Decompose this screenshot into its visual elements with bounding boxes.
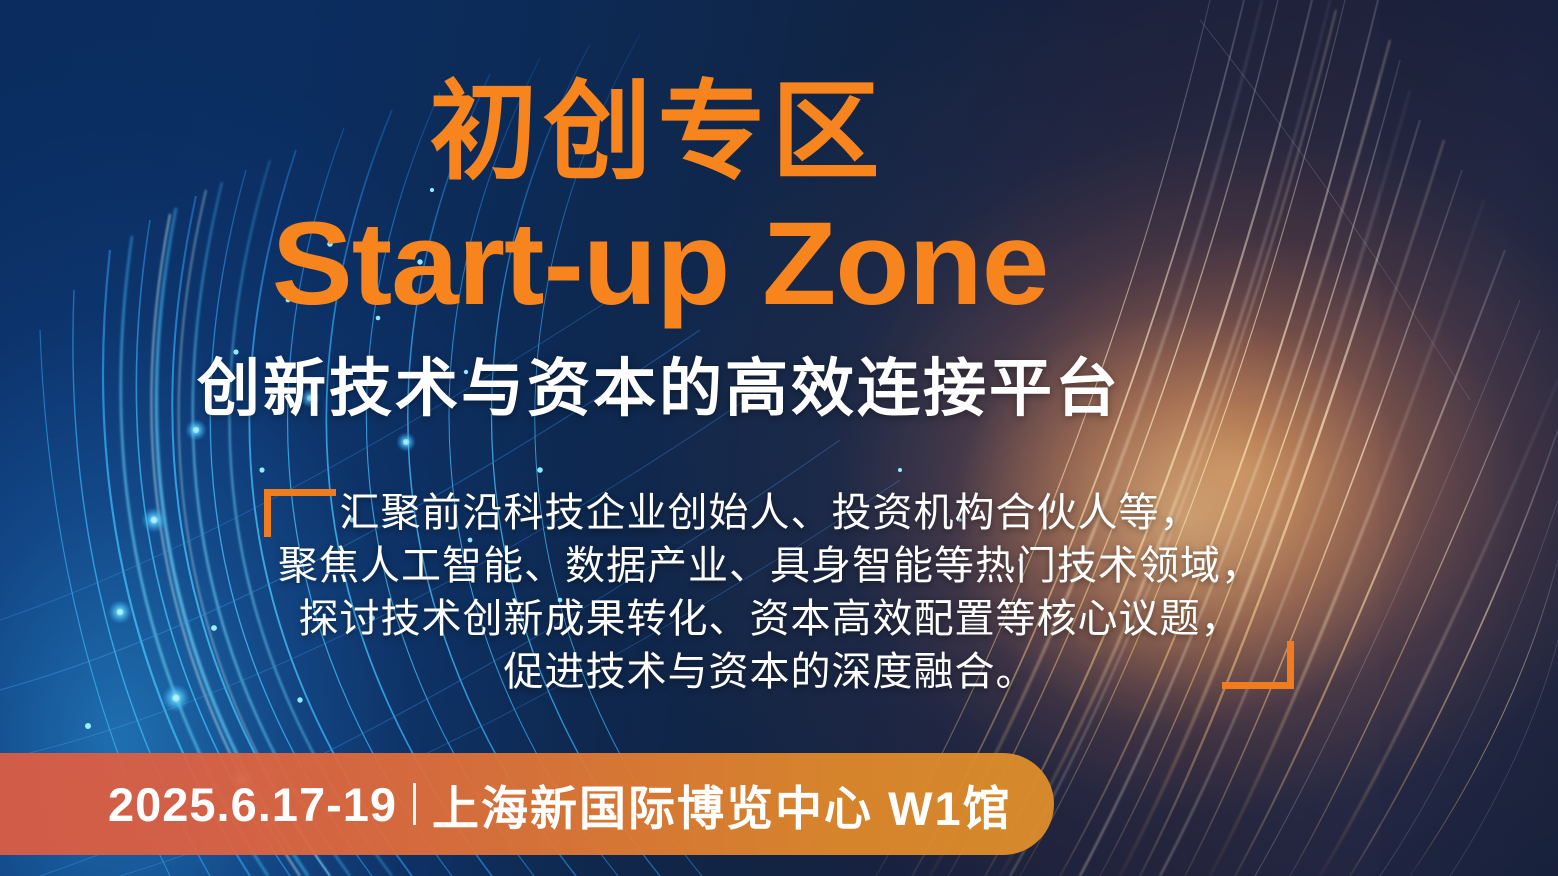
page-subtitle: 创新技术与资本的高效连接平台: [0, 358, 1318, 421]
banner-content: 初创专区 Start-up Zone 创新技术与资本的高效连接平台 汇聚前沿科技…: [0, 0, 1558, 876]
description-line-3: 探讨技术创新成果转化、资本高效配置等核心议题，: [230, 593, 1310, 646]
footer-info: 2025.6.17-19 上海新国际博览中心 W1馆: [108, 753, 1012, 855]
event-date: 2025.6.17-19: [108, 777, 397, 832]
event-venue: 上海新国际博览中心 W1馆: [432, 770, 1012, 839]
description-line-4: 促进技术与资本的深度融合。: [230, 646, 1310, 699]
description-block: 汇聚前沿科技企业创始人、投资机构合伙人等， 聚焦人工智能、数据产业、具身智能等热…: [230, 487, 1310, 699]
startup-zone-banner: 初创专区 Start-up Zone 创新技术与资本的高效连接平台 汇聚前沿科技…: [0, 0, 1558, 876]
page-title-english: Start-up Zone: [0, 205, 1340, 323]
description-line-2: 聚焦人工智能、数据产业、具身智能等热门技术领域，: [230, 540, 1310, 593]
description-line-1: 汇聚前沿科技企业创始人、投资机构合伙人等，: [230, 487, 1310, 540]
page-title-chinese: 初创专区: [0, 78, 1315, 186]
footer-separator-icon: [413, 783, 416, 825]
